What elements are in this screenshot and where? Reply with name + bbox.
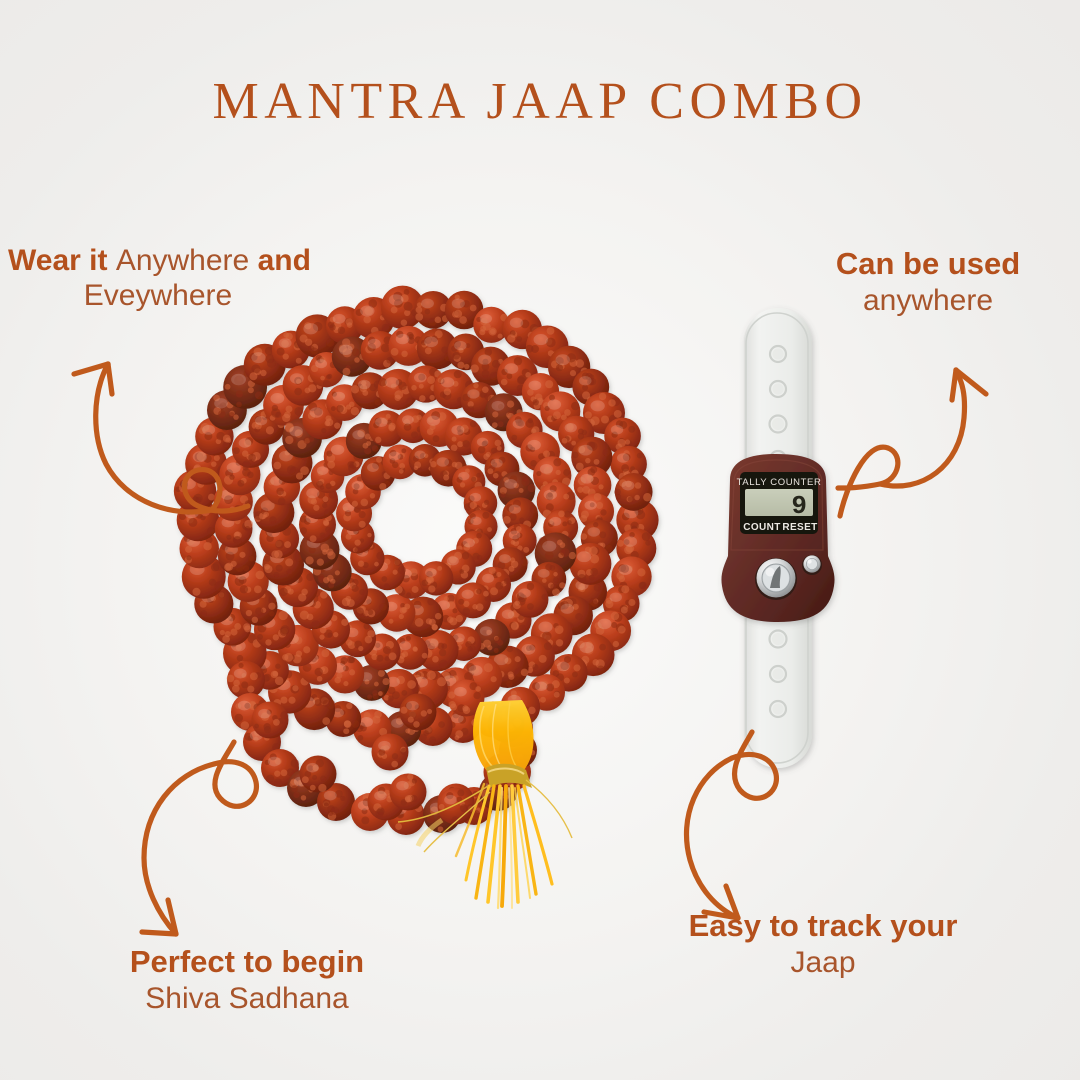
callout-bottom-left: Perfect to begin Shiva Sadhana (72, 944, 422, 1016)
curved-arrow-up-left-icon (52, 330, 252, 520)
callout-tl-bold-a: Wear it (8, 244, 116, 277)
callout-br-line2: Jaap (628, 945, 1018, 980)
callout-tl-line2: Eveywhere (8, 278, 308, 313)
count-label: COUNT (743, 522, 781, 533)
callout-bl-line1: Perfect to begin (72, 944, 422, 981)
callout-bl-line2: Shiva Sadhana (72, 981, 422, 1016)
callout-tl-bold-b: and (258, 244, 311, 277)
callout-top-right: Can be used anywhere (794, 246, 1062, 318)
callout-tr-line1: Can be used (794, 246, 1062, 283)
callout-tr-line2: anywhere (794, 283, 1062, 318)
curved-arrow-up-right-icon (830, 338, 1020, 528)
callout-bottom-right: Easy to track your Jaap (628, 908, 1018, 980)
counter-brand-label: TALLY COUNTER (737, 477, 822, 488)
lcd-value: 9 (791, 491, 807, 521)
poster-canvas: MANTRA JAAP COMBO (0, 0, 1080, 1080)
curved-arrow-down-right-icon (668, 728, 863, 933)
reset-button (802, 555, 822, 575)
reset-label: RESET (782, 522, 817, 533)
callout-tl-regular: Anywhere (116, 244, 258, 277)
callout-top-left: Wear it Anywhere and Eveywhere (8, 243, 388, 314)
counter-body: TALLY COUNTER 9 COUNT RESET (721, 454, 834, 622)
curved-arrow-down-right-icon (128, 738, 318, 943)
count-button (755, 558, 797, 600)
callout-br-line1: Easy to track your (628, 908, 1018, 945)
page-title: MANTRA JAAP COMBO (0, 72, 1080, 131)
